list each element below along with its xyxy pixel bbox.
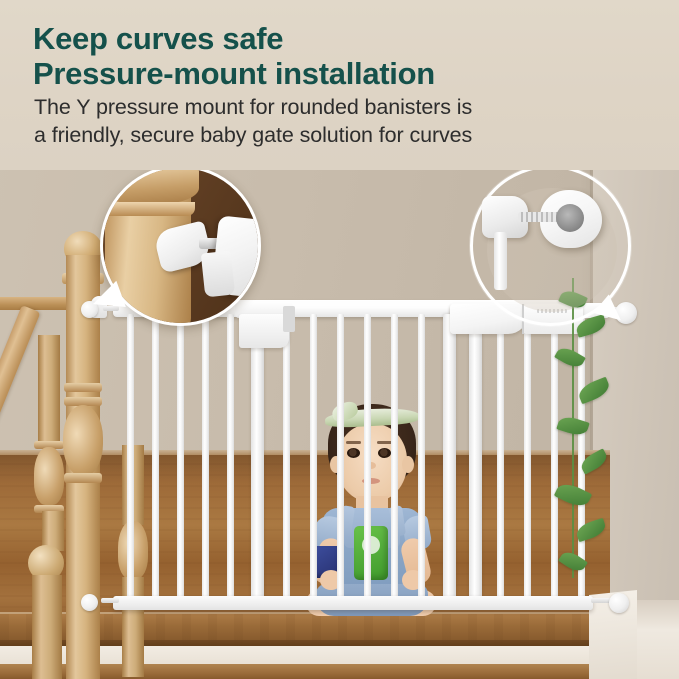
- newel-band: [64, 383, 102, 392]
- gate-slat: [127, 314, 134, 602]
- callout-banister-ring: [101, 202, 195, 216]
- pressure-mount-puck-bottom-left: [81, 594, 98, 611]
- subtitle-line-2: a friendly, secure baby gate solution fo…: [34, 121, 634, 149]
- subtitle-line-1: The Y pressure mount for rounded baniste…: [34, 95, 472, 119]
- gate-slat: [310, 314, 317, 602]
- gate-slat: [152, 314, 159, 602]
- plant-leaf: [576, 377, 612, 405]
- gate-slat: [497, 318, 504, 602]
- headline-line-2: Pressure-mount installation: [33, 57, 633, 92]
- callout-banister-cap: [100, 165, 199, 204]
- plant-leaf: [578, 448, 610, 474]
- gate-slat: [227, 314, 234, 602]
- plant-leaf: [574, 518, 607, 542]
- headline-band: Keep curves safe Pressure-mount installa…: [0, 0, 679, 170]
- product-feature-image: Keep curves safe Pressure-mount installa…: [0, 0, 679, 679]
- product-subtitle: The Y pressure mount for rounded baniste…: [34, 93, 634, 150]
- newel-turned-belly: [63, 405, 103, 477]
- callout-right-wall-cup-interior: [556, 204, 584, 232]
- gate-slat: [391, 314, 398, 602]
- mount-stem: [101, 598, 119, 603]
- callout-right-gate-post: [494, 232, 507, 290]
- gate-bottom-rail: [113, 596, 593, 610]
- gate-slat: [337, 314, 344, 602]
- baluster-urn: [34, 447, 64, 505]
- gate-slat: [418, 314, 425, 602]
- newel-band: [64, 473, 102, 483]
- gate-slat: [202, 314, 209, 602]
- plant-leaf: [554, 344, 586, 371]
- gate-hinge-notch: [283, 306, 295, 332]
- gate-slat: [364, 314, 371, 602]
- gate-slat: [177, 314, 184, 602]
- product-headline: Keep curves safe Pressure-mount installa…: [33, 22, 633, 91]
- baby-safety-gate: [105, 300, 625, 615]
- headline-line-1: Keep curves safe: [33, 21, 283, 56]
- gate-fixed-stile: [469, 314, 482, 602]
- baluster-base: [32, 575, 62, 679]
- gate-slat: [283, 314, 290, 602]
- gate-door-latch-stile: [443, 314, 456, 602]
- gate-slat: [524, 318, 531, 602]
- houseplant: [556, 278, 618, 608]
- baluster-spindle: [38, 335, 60, 445]
- gate-door-hinge-stile: [251, 314, 264, 602]
- callout-gate-bracket-lower: [201, 251, 235, 298]
